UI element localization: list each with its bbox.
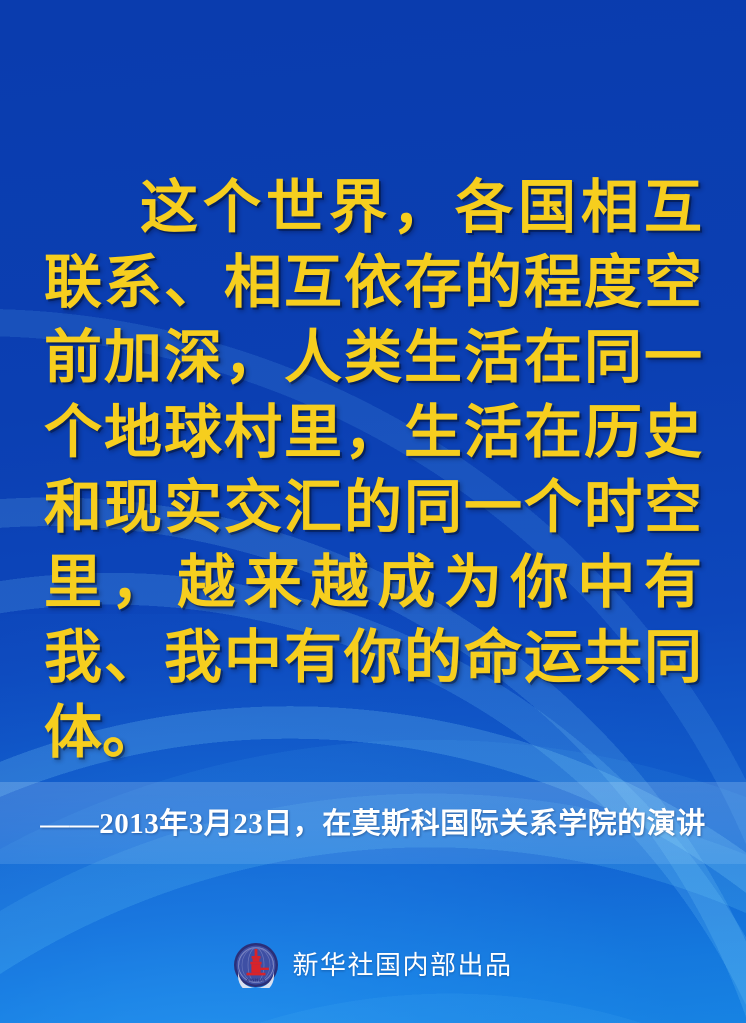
svg-text:XINHUA: XINHUA	[247, 978, 267, 983]
poster-canvas: 这个世界，各国相互联系、相互依存的程度空前加深，人类生活在同一个地球村里，生活在…	[0, 0, 746, 1023]
footer-text: 新华社国内部出品	[292, 950, 512, 980]
footer: XINHUA 新华社国内部出品	[0, 942, 746, 988]
xinhua-logo-icon: XINHUA	[233, 942, 279, 988]
attribution-text: ——2013年3月23日，在莫斯科国际关系学院的演讲	[0, 806, 746, 842]
quote-text: 这个世界，各国相互联系、相互依存的程度空前加深，人类生活在同一个地球村里，生活在…	[0, 170, 746, 770]
